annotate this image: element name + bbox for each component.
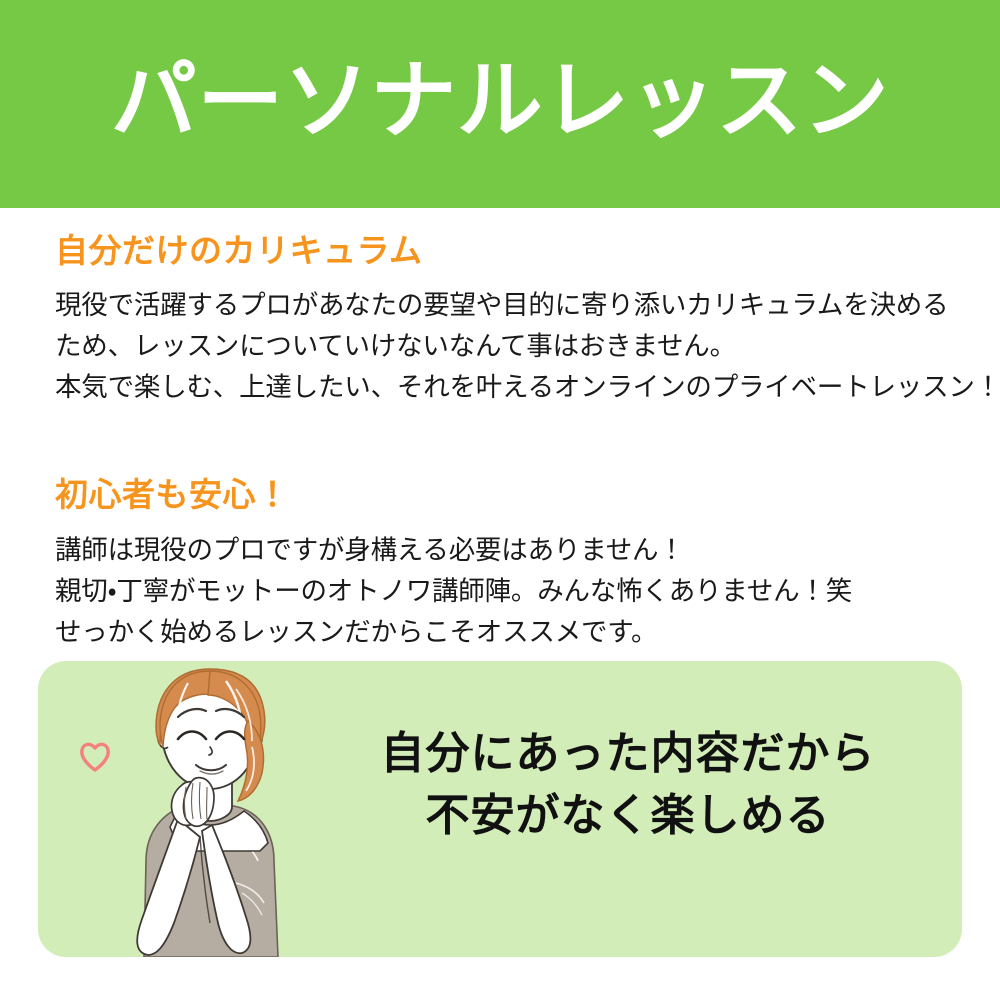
section-curriculum: 自分だけのカリキュラム 現役で活躍するプロがあなたの要望や目的に寄り添いカリキュ… [55,230,955,408]
section-spacer [55,414,955,474]
header-banner: パーソナルレッスン [0,0,1000,208]
body-line: ため、レッスンについていけないなんて事はおきません。 [55,326,955,367]
section-heading-beginner: 初心者も安心！ [55,474,955,515]
content-area: 自分だけのカリキュラム 現役で活躍するプロがあなたの要望や目的に寄り添いカリキュ… [55,230,955,659]
section-heading-curriculum: 自分だけのカリキュラム [55,230,955,271]
body-line: 現役で活躍するプロがあなたの要望や目的に寄り添いカリキュラムを決める [55,285,955,326]
body-line: 親切・丁寧がモットーのオトノワ講師陣。みんな怖くありません！笑 [55,571,955,612]
banner-title: パーソナルレッスン [111,58,890,150]
heart-icon [78,741,112,773]
section-body-beginner: 講師は現役のプロですが身構える必要はありません！ 親切・丁寧がモットーのオトノワ… [55,530,955,653]
poster-page: パーソナルレッスン 自分だけのカリキュラム 現役で活躍するプロがあなたの要望や目… [0,0,1000,1000]
section-body-curriculum: 現役で活躍するプロがあなたの要望や目的に寄り添いカリキュラムを決める ため、レッ… [55,285,955,408]
body-line: せっかく始めるレッスンだからこそオススメです。 [55,612,955,653]
woman-illustration [60,661,350,957]
body-line: 本気で楽しむ、上達したい、それを叶えるオンラインのプライベートレッスン！ [55,367,955,408]
promo-line: 不安がなく楽しめる [338,785,918,847]
promo-line: 自分にあった内容だから [338,723,918,785]
promo-headline: 自分にあった内容だから 不安がなく楽しめる [338,723,918,847]
section-beginner: 初心者も安心！ 講師は現役のプロですが身構える必要はありません！ 親切・丁寧がモ… [55,474,955,652]
promo-card: 自分にあった内容だから 不安がなく楽しめる [38,661,962,957]
body-line: 講師は現役のプロですが身構える必要はありません！ [55,530,955,571]
